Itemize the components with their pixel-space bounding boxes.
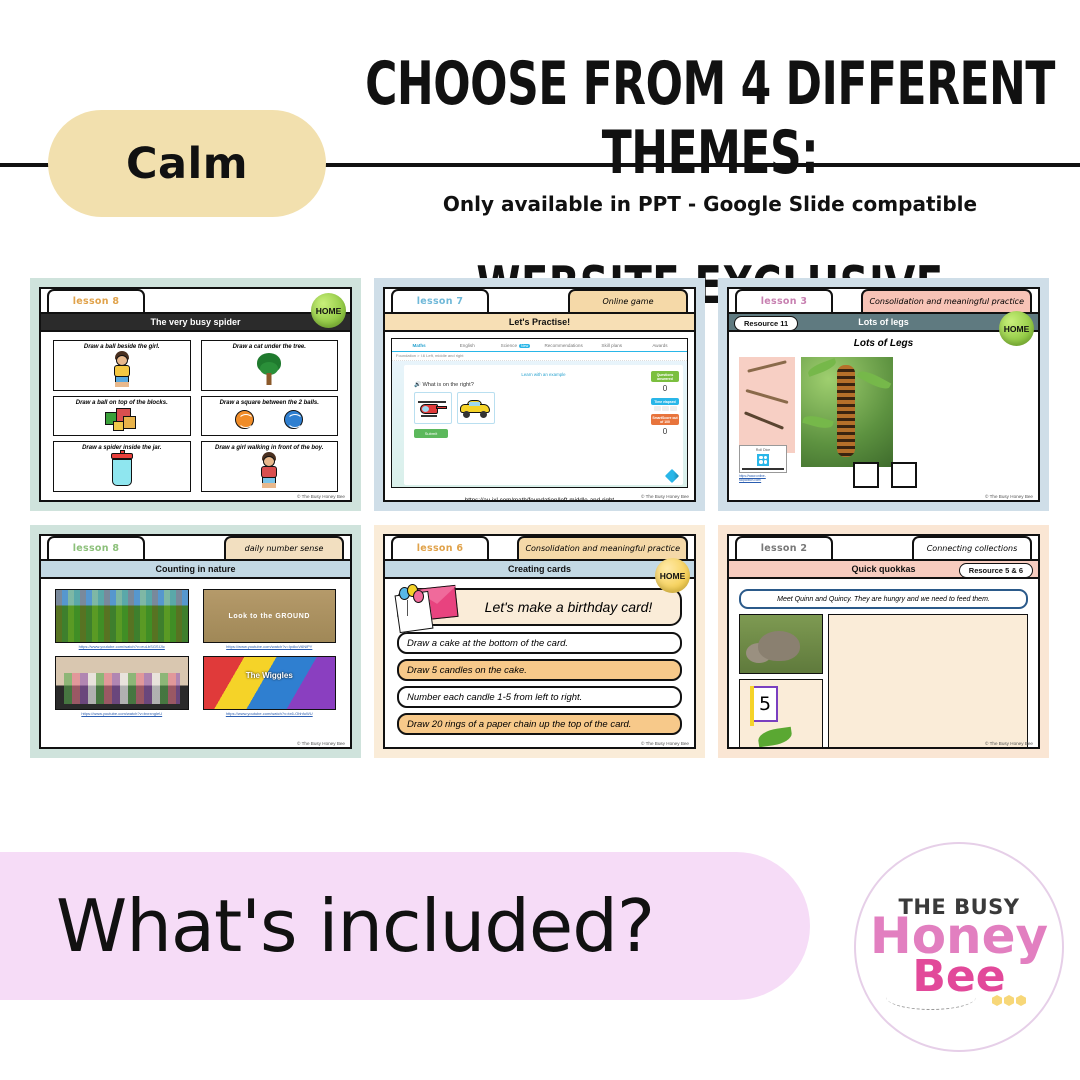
ixl-nav-english[interactable]: English [443, 343, 491, 348]
card1-lesson-tab[interactable]: lesson 8 [47, 289, 145, 312]
card4-lesson-label: lesson 8 [73, 543, 120, 554]
card5-category-label: Consolidation and meaningful practice [525, 544, 680, 553]
card5-lesson-label: lesson 6 [417, 543, 464, 554]
prompt-text: Draw a ball beside the girl. [84, 344, 160, 351]
video-thumbnail[interactable] [55, 589, 189, 643]
task-item: Draw 20 rings of a paper chain up the to… [397, 713, 682, 735]
balls-icon [235, 406, 303, 432]
card2-tabrow: lesson 7 Online game [385, 289, 694, 312]
page-title: CHOOSE FROM 4 DIFFERENT THEMES: [340, 50, 1080, 188]
ixl-nav-maths[interactable]: Maths [395, 343, 443, 348]
submit-button[interactable]: Submit [414, 429, 448, 438]
card1-tabrow: lesson 8 [41, 289, 350, 312]
smartscore-value: 0 [651, 425, 679, 438]
card-copyright: © The Busy Honey Bee [641, 741, 689, 746]
card6-category-tab[interactable]: Connecting collections [912, 536, 1032, 559]
card5-subbar-label: Creating cards [508, 564, 571, 574]
leaf-icon [757, 727, 793, 748]
ixl-nav-science-label: Science [501, 343, 517, 348]
prompt-text: Draw a ball on top of the blocks. [76, 400, 168, 407]
card2-subbar: Let's Practise! [385, 312, 694, 332]
theme-pill-calm[interactable]: Calm [48, 110, 326, 217]
ixl-nav-skill-plans[interactable]: Skill plans [588, 343, 636, 348]
card1-body: Draw a ball beside the girl. Draw a cat … [41, 332, 350, 500]
video-url-link[interactable]: https://www.youtube.com/watch?v=euLbSGSI… [55, 645, 189, 649]
card1-subbar-label: The very busy spider [150, 317, 240, 327]
time-elapsed-cells [651, 406, 679, 411]
home-button-label: HOME [1004, 324, 1030, 334]
task-item: Draw 5 candles on the cake. [397, 659, 682, 681]
card2-category-label: Online game [602, 297, 653, 306]
card3-body: Lots of Legs Roll Dice [729, 332, 1038, 500]
car-icon [460, 399, 492, 417]
cta-label: What's included? [0, 852, 810, 1000]
slide-card-5[interactable]: lesson 6 Consolidation and meaningful pr… [374, 525, 705, 758]
prompt-text: Draw a girl walking in front of the boy. [215, 445, 323, 452]
card4-category-tab[interactable]: daily number sense [224, 536, 344, 559]
task-item: Draw a cake at the bottom of the card. [397, 632, 682, 654]
ixl-screenshot[interactable]: Maths English ScienceNew Recommendations… [391, 338, 688, 488]
answer-choice-car[interactable] [457, 392, 495, 424]
card3-category-label: Consolidation and meaningful practice [869, 297, 1024, 306]
card6-category-label: Connecting collections [927, 544, 1018, 553]
roll-dice-widget[interactable]: Roll Dice https://www.online-stopwatch.c… [739, 445, 787, 483]
prompt-item: Draw a cat under the tree. [201, 340, 339, 391]
card1-subbar: The very busy spider [41, 312, 350, 332]
home-button[interactable]: HOME [311, 293, 346, 328]
helicopter-icon [418, 398, 448, 418]
prompt-item: Draw a girl walking in front of the boy. [201, 441, 339, 492]
card6-subbar: Quick quokkas Resource 5 & 6 [729, 559, 1038, 579]
slide-card-3[interactable]: lesson 3 Consolidation and meaningful pr… [718, 278, 1049, 511]
roll-dice-label: Roll Dice [742, 448, 784, 452]
card2-lesson-tab[interactable]: lesson 7 [391, 289, 489, 312]
birthday-card-clipart [393, 583, 459, 633]
ixl-nav-recommendations[interactable]: Recommendations [540, 343, 588, 348]
number-card-value: 5 [759, 693, 771, 715]
card6-subbar-label: Quick quokkas [851, 564, 915, 574]
card6-lesson-tab[interactable]: lesson 2 [735, 536, 833, 559]
card3-slide-title: Lots of Legs [735, 338, 1032, 349]
card5-body: Let's make a birthday card! Draw a cake … [385, 579, 694, 747]
resource-pill[interactable]: Resource 5 & 6 [959, 563, 1033, 578]
video-url-link[interactable]: https://www.youtube.com/watch?v=tx6-Ohhf… [203, 712, 337, 716]
cta-banner: What's included? [0, 852, 810, 1000]
header-text-block: CHOOSE FROM 4 DIFFERENT THEMES: Only ava… [340, 0, 1080, 302]
prompt-text: Draw a cat under the tree. [233, 344, 306, 351]
pencil-icon[interactable] [665, 469, 679, 483]
questions-answered-label: Questions answered [651, 371, 679, 382]
card6-body: Meet Quinn and Quincy. They are hungry a… [729, 579, 1038, 747]
caterpillar-photo [801, 357, 893, 467]
card3-category-tab[interactable]: Consolidation and meaningful practice [861, 289, 1032, 312]
workspace-area[interactable] [828, 614, 1028, 749]
ixl-nav: Maths English ScienceNew Recommendations… [392, 339, 687, 352]
answer-choice-helicopter[interactable] [414, 392, 452, 424]
ixl-nav-awards[interactable]: Awards [636, 343, 684, 348]
card3-tabrow: lesson 3 Consolidation and meaningful pr… [729, 289, 1038, 312]
brand-logo: THE BUSY Honey Bee [854, 842, 1064, 1052]
card5-tabrow: lesson 6 Consolidation and meaningful pr… [385, 536, 694, 559]
prompt-text: Draw a square between the 2 balls. [220, 400, 319, 407]
ixl-answer-choices [414, 392, 683, 424]
ixl-breadcrumb: Foundation > I.6 Left, middle and right [392, 352, 687, 361]
slide-card-1[interactable]: lesson 8 The very busy spider HOME Draw … [30, 278, 361, 511]
card4-lesson-tab[interactable]: lesson 8 [47, 536, 145, 559]
card3-subbar: Resource 11 Lots of legs [729, 312, 1038, 332]
resource-pill[interactable]: Resource 11 [734, 316, 798, 331]
card1-lesson-label: lesson 8 [73, 296, 120, 307]
video-caption: Look to the GROUND [228, 613, 310, 620]
home-button[interactable]: HOME [655, 558, 690, 593]
tree-icon [256, 351, 282, 387]
jar-icon [111, 452, 133, 488]
slide-card-4[interactable]: lesson 8 daily number sense Counting in … [30, 525, 361, 758]
home-button[interactable]: HOME [999, 311, 1034, 346]
task-item: Number each candle 1-5 from left to righ… [397, 686, 682, 708]
card5-subbar: Creating cards [385, 559, 694, 579]
boy-icon [258, 452, 280, 488]
dice-url-link[interactable]: https://www.online-stopwatch.com/ [739, 474, 787, 482]
card3-subbar-label: Lots of legs [858, 317, 909, 327]
speaker-icon[interactable]: 🔊 [414, 382, 421, 388]
answer-boxes[interactable] [853, 462, 917, 488]
time-elapsed-label: Time elapsed [651, 398, 679, 405]
card5-lesson-tab[interactable]: lesson 6 [391, 536, 489, 559]
card6-banner: Meet Quinn and Quincy. They are hungry a… [739, 589, 1028, 609]
bee-trail-icon [886, 984, 976, 1010]
poster-header: Calm CHOOSE FROM 4 DIFFERENT THEMES: Onl… [0, 0, 1080, 265]
video-thumbnail[interactable]: Look to the GROUND [203, 589, 337, 643]
smartscore-label: SmartScore out of 100 [651, 414, 679, 425]
prompt-item: Draw a ball beside the girl. [53, 340, 191, 391]
card6-lesson-label: lesson 2 [761, 543, 808, 554]
card-copyright: © The Busy Honey Bee [985, 741, 1033, 746]
ixl-question: 🔊 What is on the right? [414, 382, 683, 388]
prompt-item: Draw a ball on top of the blocks. [53, 396, 191, 437]
card2-category-tab[interactable]: Online game [568, 289, 688, 312]
questions-answered-value: 0 [651, 382, 679, 395]
home-button-label: HOME [660, 571, 686, 581]
card4-subbar: Counting in nature [41, 559, 350, 579]
card2-body: Maths English ScienceNew Recommendations… [385, 332, 694, 500]
card-copyright: © The Busy Honey Bee [297, 741, 345, 746]
number-card[interactable]: 5 [752, 686, 778, 722]
card-copyright: © The Busy Honey Bee [297, 494, 345, 499]
card4-body: https://www.youtube.com/watch?v=euLbSGSI… [41, 579, 350, 747]
card-copyright: © The Busy Honey Bee [985, 494, 1033, 499]
video-thumbnail[interactable] [55, 656, 189, 710]
prompt-item: Draw a square between the 2 balls. [201, 396, 339, 437]
card3-lesson-tab[interactable]: lesson 3 [735, 289, 833, 312]
card4-category-label: daily number sense [245, 544, 324, 553]
girl-icon [111, 351, 133, 387]
prompt-item: Draw a spider inside the jar. [53, 441, 191, 492]
card5-category-tab[interactable]: Consolidation and meaningful practice [517, 536, 688, 559]
card-copyright: © The Busy Honey Bee [641, 494, 689, 499]
card1-prompt-grid: Draw a ball beside the girl. Draw a cat … [47, 338, 344, 494]
ixl-question-text: What is on the right? [423, 382, 474, 388]
slide-preview-grid: lesson 8 The very busy spider HOME Draw … [30, 278, 1050, 758]
card6-tabrow: lesson 2 Connecting collections [729, 536, 1038, 559]
card4-subbar-label: Counting in nature [156, 564, 236, 574]
card3-lesson-label: lesson 3 [761, 296, 808, 307]
number-leaf-panel: 5 [739, 679, 823, 749]
video-thumbnail[interactable] [203, 656, 337, 710]
poster-root: Calm CHOOSE FROM 4 DIFFERENT THEMES: Onl… [0, 0, 1080, 1080]
home-button-label: HOME [316, 306, 342, 316]
video-url-link[interactable]: https://www.youtube.com/watch?v=IpdkcV6N… [203, 645, 337, 649]
ixl-nav-science[interactable]: ScienceNew [491, 343, 539, 348]
blocks-icon [105, 406, 139, 432]
video-grid: https://www.youtube.com/watch?v=euLbSGSI… [47, 585, 344, 725]
sticks-image [739, 357, 795, 453]
slide-card-2[interactable]: lesson 7 Online game Let's Practise! Mat… [374, 278, 705, 511]
theme-pill-label: Calm [126, 139, 248, 189]
ixl-main: Learn with an example 🔊 What is on the r… [392, 361, 687, 488]
video-url-link[interactable]: https://www.youtube.com/watch?v=bvrxngIe… [55, 712, 189, 716]
quokka-photo [739, 614, 823, 674]
slide-card-6[interactable]: lesson 2 Connecting collections Quick qu… [718, 525, 1049, 758]
card2-lesson-label: lesson 7 [417, 296, 464, 307]
dice-icon [757, 454, 769, 466]
page-subtitle: Only available in PPT - Google Slide com… [340, 192, 1080, 216]
honeycomb-icon [992, 995, 1026, 1006]
card4-tabrow: lesson 8 daily number sense [41, 536, 350, 559]
ixl-score-panel: Questions answered 0 Time elapsed SmartS… [651, 371, 679, 438]
learn-with-example-link[interactable]: Learn with an example [404, 365, 683, 377]
new-badge: New [519, 344, 530, 348]
card2-subbar-label: Let's Practise! [509, 317, 570, 327]
